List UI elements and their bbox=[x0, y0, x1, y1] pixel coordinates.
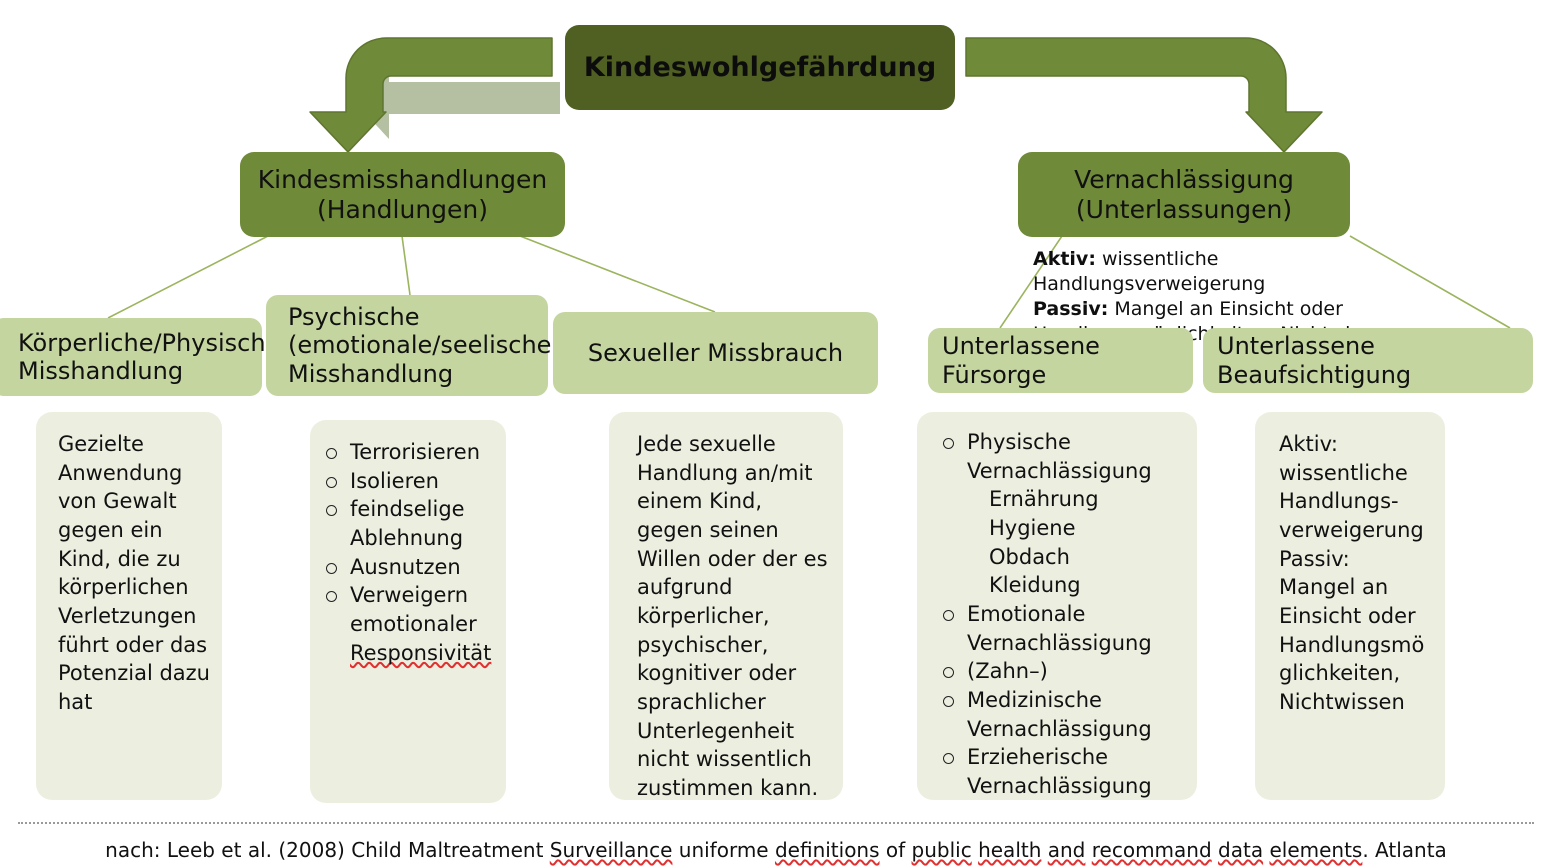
list-item: Ausnutzen bbox=[324, 553, 498, 582]
list-item: feindselige Ablehnung bbox=[324, 495, 498, 552]
spellcheck-misspelled-word: Responsivität bbox=[350, 641, 491, 665]
fuersorge-item-0: Physische Vernachlässigung bbox=[967, 430, 1152, 483]
category-beaufsichtigung-label: Unterlassene Beaufsichtigung bbox=[1217, 332, 1519, 389]
node-root-label: Kindeswohlgefährdung bbox=[584, 52, 936, 84]
beaufsichtigung-line-6: Mangel an bbox=[1279, 573, 1437, 602]
fuersorge-sub-0-0: Ernährung bbox=[967, 485, 1189, 514]
footer-misspelled-recommand: recommand bbox=[1092, 838, 1212, 862]
psychisch-item-1: Isolieren bbox=[350, 469, 439, 493]
psychisch-item-3: Ausnutzen bbox=[350, 555, 461, 579]
beaufsichtigung-line-2: wissentliche bbox=[1279, 459, 1437, 488]
beaufsichtigung-line-1: Aktiv: bbox=[1279, 430, 1437, 459]
footer-part-3: of bbox=[880, 838, 912, 862]
footer-misspelled-surveillance: Surveillance bbox=[550, 838, 673, 862]
node-category-unterlassene-beaufsichtigung[interactable]: Unterlassene Beaufsichtigung bbox=[1203, 328, 1533, 393]
branch-left-line2: (Handlungen) bbox=[317, 195, 488, 225]
list-item: Verweigern emotionaler Responsivität bbox=[324, 581, 498, 667]
footer-misspelled-data: data bbox=[1218, 838, 1263, 862]
arrow-root-to-right-branch bbox=[966, 38, 1322, 152]
footer-misspelled-health: health bbox=[978, 838, 1041, 862]
psychisch-item-list: Terrorisieren Isolieren feindselige Able… bbox=[324, 438, 498, 667]
psychisch-item-2: feindselige Ablehnung bbox=[350, 497, 465, 550]
beaufsichtigung-line-4: verweigerung bbox=[1279, 516, 1437, 545]
node-branch-kindesmisshandlungen[interactable]: Kindesmisshandlungen (Handlungen) bbox=[240, 152, 565, 237]
detail-box-unterlassene-beaufsichtigung: Aktiv: wissentliche Handlungs- verweiger… bbox=[1255, 412, 1445, 800]
fuersorge-item-2: (Zahn–) bbox=[967, 659, 1048, 683]
side-note-passiv-label: Passiv: bbox=[1033, 298, 1108, 320]
fuersorge-sub-0-3: Kleidung bbox=[967, 571, 1189, 600]
fuersorge-sub-0-2: Obdach bbox=[967, 543, 1189, 572]
list-item: Erzieherische Vernachlässigung bbox=[941, 743, 1189, 800]
diagram-canvas: Kindeswohlgefährdung Kindesmisshandlunge… bbox=[0, 0, 1552, 867]
node-category-sexueller-missbrauch[interactable]: Sexueller Missbrauch bbox=[553, 312, 878, 394]
detail-sexuell-text: Jede sexuelle Handlung an/mit einem Kind… bbox=[637, 430, 833, 800]
beaufsichtigung-line-10: Nichtwissen bbox=[1279, 688, 1437, 717]
branch-left-line1: Kindesmisshandlungen bbox=[258, 165, 547, 195]
detail-box-psychische-misshandlung: Terrorisieren Isolieren feindselige Able… bbox=[310, 420, 506, 803]
detail-box-unterlassene-fuersorge: Physische Vernachlässigung Ernährung Hyg… bbox=[917, 412, 1197, 800]
list-item: Terrorisieren bbox=[324, 438, 498, 467]
footer-part-9: . Atlanta bbox=[1362, 838, 1446, 862]
node-branch-vernachlaessigung[interactable]: Vernachlässigung (Unterlassungen) bbox=[1018, 152, 1350, 237]
category-psychisch-line2: (emotionale/seelische) bbox=[288, 331, 561, 359]
psychisch-item-0: Terrorisieren bbox=[350, 440, 480, 464]
list-item: Isolieren bbox=[324, 467, 498, 496]
fuersorge-item-3: Medizinische Vernachlässigung bbox=[967, 688, 1152, 741]
node-category-psychische-misshandlung[interactable]: Psychische (emotionale/seelische) Missha… bbox=[266, 295, 548, 396]
node-root-kindeswohlgefaehrdung[interactable]: Kindeswohlgefährdung bbox=[565, 25, 955, 110]
detail-box-sexueller-missbrauch: Jede sexuelle Handlung an/mit einem Kind… bbox=[609, 412, 843, 800]
beaufsichtigung-line-9: glichkeiten, bbox=[1279, 659, 1437, 688]
branch-right-line2: (Unterlassungen) bbox=[1076, 195, 1292, 225]
category-koerperlich-line1: Körperliche/Physische bbox=[18, 329, 280, 357]
fuersorge-item-list: Physische Vernachlässigung Ernährung Hyg… bbox=[941, 428, 1189, 800]
footer-misspelled-public: public bbox=[912, 838, 972, 862]
detail-box-koerperliche-misshandlung: Gezielte Anwendung von Gewalt gegen ein … bbox=[36, 412, 222, 800]
beaufsichtigung-line-7: Einsicht oder bbox=[1279, 602, 1437, 631]
list-item: Medizinische Vernachlässigung bbox=[941, 686, 1189, 743]
footer-misspelled-elements: elements bbox=[1269, 838, 1362, 862]
footer-citation: nach: Leeb et al. (2008) Child Maltreatm… bbox=[0, 838, 1552, 862]
category-psychisch-line3: Misshandlung bbox=[288, 360, 453, 388]
beaufsichtigung-line-8: Handlungsmö bbox=[1279, 631, 1437, 660]
list-item: Emotionale Vernachlässigung bbox=[941, 600, 1189, 657]
branch-right-line1: Vernachlässigung bbox=[1074, 165, 1294, 195]
side-note-passiv-text: Mangel an Einsicht oder bbox=[1108, 298, 1343, 320]
category-psychisch-line1: Psychische bbox=[288, 303, 420, 331]
list-item: (Zahn–) bbox=[941, 657, 1189, 686]
footer-divider bbox=[18, 822, 1534, 824]
node-category-unterlassene-fuersorge[interactable]: Unterlassene Fürsorge bbox=[928, 328, 1193, 393]
category-koerperlich-line2: Misshandlung bbox=[18, 357, 183, 385]
footer-misspelled-and: and bbox=[1048, 838, 1086, 862]
beaufsichtigung-line-5: Passiv: bbox=[1279, 545, 1437, 574]
footer-part-2: uniforme bbox=[672, 838, 775, 862]
side-note-line-aktiv: Aktiv: wissentliche Handlungsverweigerun… bbox=[1033, 247, 1453, 297]
psychisch-item-4: Verweigern emotionaler Responsivität bbox=[350, 583, 491, 664]
footer-part-1: nach: Leeb et al. (2008) Child Maltreatm… bbox=[105, 838, 550, 862]
list-item: Physische Vernachlässigung Ernährung Hyg… bbox=[941, 428, 1189, 600]
arrow-root-to-left-branch bbox=[310, 38, 560, 152]
detail-koerperlich-text: Gezielte Anwendung von Gewalt gegen ein … bbox=[58, 430, 210, 717]
beaufsichtigung-line-3: Handlungs- bbox=[1279, 487, 1437, 516]
category-sexuell-label: Sexueller Missbrauch bbox=[588, 339, 843, 367]
side-note-line-passiv: Passiv: Mangel an Einsicht oder bbox=[1033, 297, 1453, 322]
side-note-aktiv-label: Aktiv: bbox=[1033, 248, 1096, 270]
fuersorge-item-4: Erzieherische Vernachlässigung bbox=[967, 745, 1152, 798]
fuersorge-item-1: Emotionale Vernachlässigung bbox=[967, 602, 1152, 655]
footer-misspelled-definitions: definitions bbox=[775, 838, 880, 862]
category-fuersorge-label: Unterlassene Fürsorge bbox=[942, 332, 1179, 389]
node-category-koerperliche-misshandlung[interactable]: Körperliche/Physische Misshandlung bbox=[0, 318, 262, 396]
fuersorge-sub-0-1: Hygiene bbox=[967, 514, 1189, 543]
